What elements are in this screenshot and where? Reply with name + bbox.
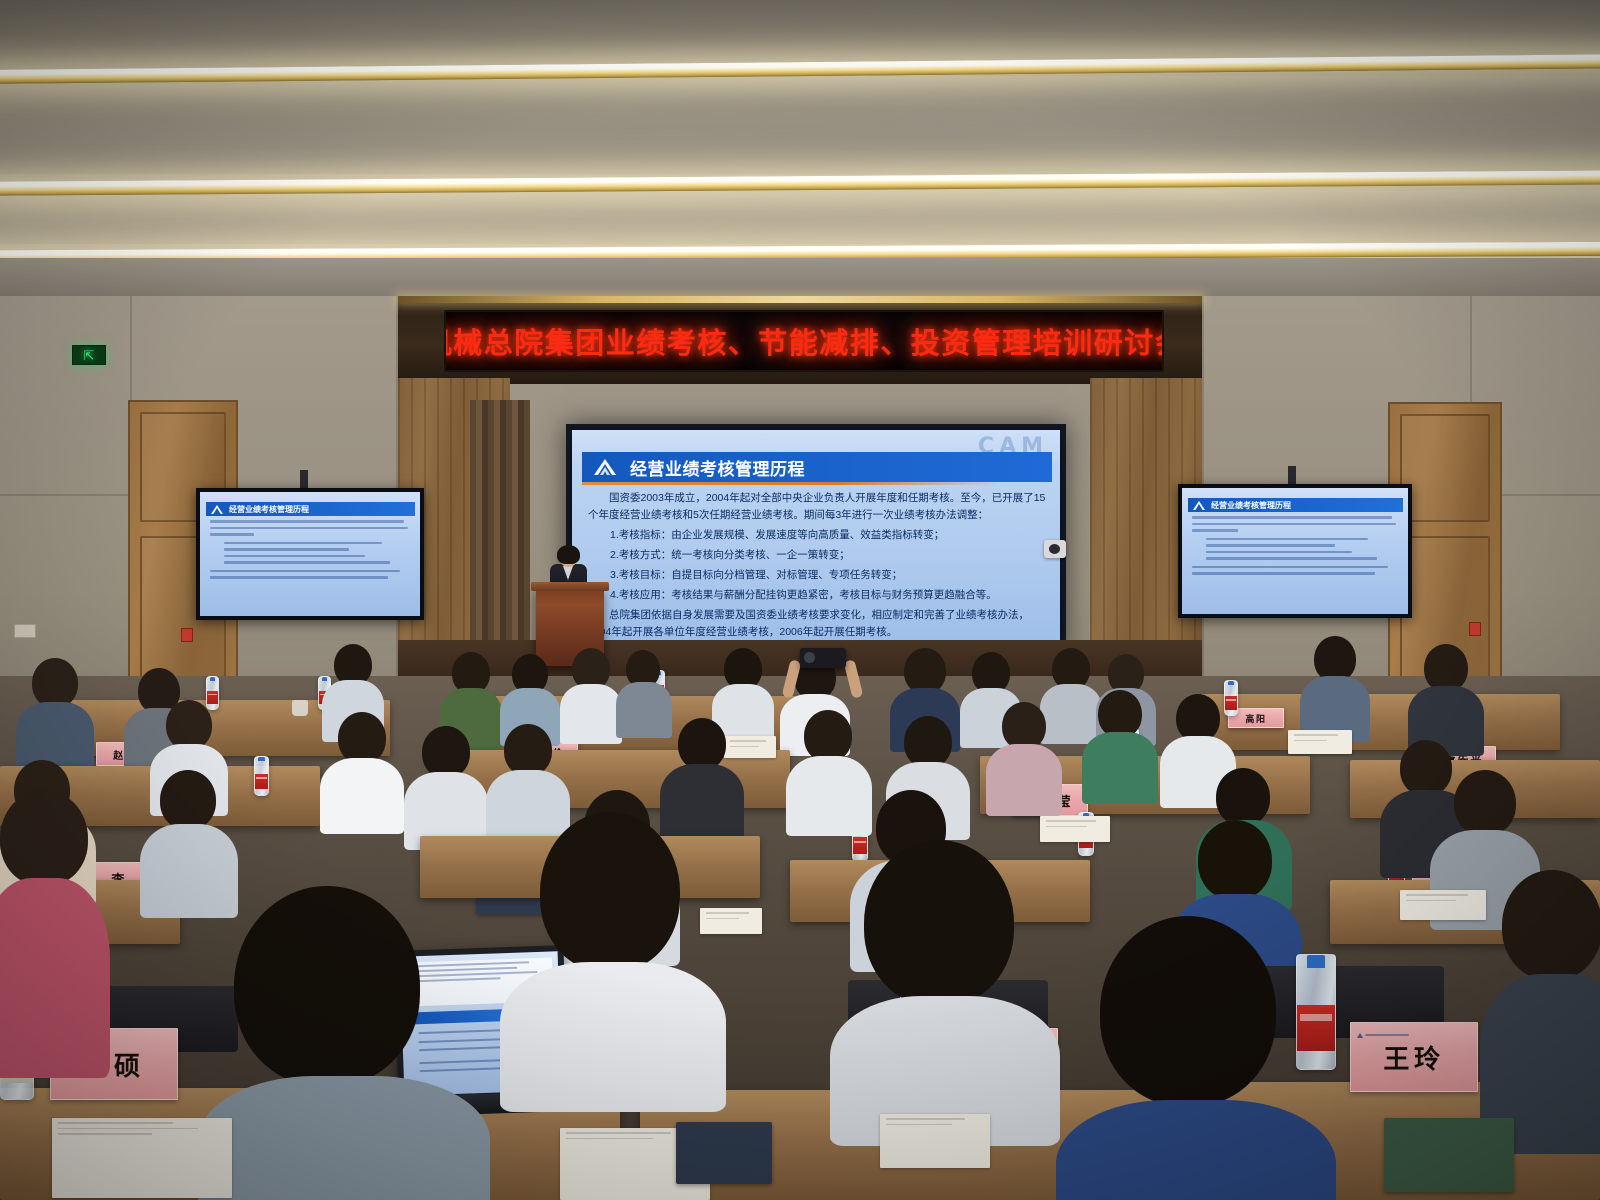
- slide-item-1: 1.考核指标：由企业发展规模、发展速度等向高质量、效益类指标转变；: [610, 527, 1048, 544]
- attendee-torso: [140, 824, 238, 918]
- monitor-right-body-lines: [1192, 516, 1400, 579]
- attendee-head: [540, 812, 680, 972]
- water-bottle: [1296, 954, 1336, 1070]
- attendee-head: [1198, 820, 1272, 900]
- attendee-head: [32, 658, 78, 708]
- emergency-exit-icon: ⇱: [72, 345, 106, 365]
- attendee-head: [1502, 870, 1600, 980]
- led-banner: 机械总院集团业绩考核、节能减排、投资管理培训研讨会: [444, 310, 1164, 372]
- attendee-head: [0, 790, 88, 886]
- attendee-head: [1424, 644, 1468, 692]
- company-logo-icon: [209, 504, 225, 515]
- ptz-camera-icon: [1044, 540, 1066, 558]
- conference-room-photo: ⇱ 机械总院集团业绩考核、节能减排、投资管理培训研讨会 CAM 经营业绩考核管理…: [0, 0, 1600, 1200]
- podium-top: [531, 582, 609, 591]
- monitor-left-body-lines: [210, 520, 412, 583]
- attendee-torso: [0, 878, 110, 1078]
- attendee-head: [504, 724, 552, 776]
- stage-curtain: [470, 400, 530, 662]
- monitor-left-screen: 经营业绩考核管理历程: [200, 492, 420, 616]
- exit-running-man-icon: ⇱: [84, 349, 95, 362]
- company-logo-icon: [1191, 500, 1207, 511]
- slide-title: 经营业绩考核管理历程: [630, 455, 805, 480]
- attendee-head: [864, 840, 1014, 1006]
- attendee-head: [1400, 740, 1452, 796]
- fire-alarm-box: [181, 628, 193, 642]
- slide-title-bar: 经营业绩考核管理历程: [582, 452, 1052, 482]
- ceiling: [0, 0, 1600, 300]
- attendee-head: [1216, 768, 1270, 826]
- smartphone-camera-icon: [800, 648, 846, 668]
- slide-accent-rule: [582, 482, 1002, 485]
- attendee-torso: [1040, 684, 1102, 744]
- attendee-head: [160, 770, 216, 830]
- speaker-hair: [557, 545, 580, 564]
- monitor-right-title-bar: 经营业绩考核管理历程: [1188, 498, 1403, 512]
- stage-gold-trim: [398, 296, 1202, 303]
- document-sheet: [1040, 816, 1110, 842]
- fire-alarm-box: [1469, 622, 1481, 636]
- slide-item-3: 3.考核目标：自提目标向分档管理、对标管理、专项任务转变；: [610, 567, 1048, 584]
- monitor-left-title-bar: 经营业绩考核管理历程: [206, 502, 415, 516]
- monitor-right-screen: 经营业绩考核管理历程: [1182, 488, 1408, 614]
- document-sheet: [700, 908, 762, 934]
- water-bottle: [1224, 680, 1238, 716]
- slide-item-2: 2.考核方式：统一考核向分类考核、一企一策转变；: [610, 547, 1048, 564]
- slide-body: 国资委2003年成立，2004年起对全部中央企业负责人开展年度和任期考核。至今，…: [588, 490, 1048, 644]
- attendee-torso: [660, 764, 744, 842]
- mug: [292, 700, 308, 716]
- attendee-torso: [1082, 732, 1158, 804]
- attendee-head: [1100, 916, 1276, 1106]
- attendee-head: [422, 726, 470, 778]
- document-sheet: [1400, 890, 1486, 920]
- attendee-head: [1454, 770, 1516, 836]
- attendee-torso: [1056, 1100, 1336, 1200]
- slide-item-4: 4.考核应用：考核结果与薪酬分配挂钩更趋紧密，考核目标与财务预算更趋融合等。: [610, 587, 1048, 604]
- attendee-head: [1002, 702, 1046, 750]
- attendee-torso: [986, 744, 1062, 816]
- attendee-head: [678, 718, 726, 770]
- attendee-torso: [616, 682, 672, 738]
- document-sheet: [724, 736, 776, 758]
- attendee-head: [1098, 690, 1142, 738]
- presentation-slide: CAM 经营业绩考核管理历程 国资委2003年成立，2004年起对全部中央企业负…: [572, 430, 1060, 650]
- document-sheet: [1288, 730, 1352, 754]
- attendee-head: [1176, 694, 1220, 742]
- water-bottle: [206, 676, 219, 710]
- attendee-torso: [786, 756, 872, 836]
- attendee-torso: [560, 684, 622, 744]
- placard-logo-icon: [1357, 1028, 1409, 1042]
- monitor-left-title: 经营业绩考核管理历程: [229, 504, 309, 515]
- side-monitor-left: 经营业绩考核管理历程: [196, 488, 424, 620]
- attendee-head: [166, 700, 212, 750]
- side-monitor-right: 经营业绩考核管理历程: [1178, 484, 1412, 618]
- door-panel-upper: [1400, 414, 1490, 522]
- notebook: [1384, 1118, 1514, 1192]
- name-placard-wangling: 王玲: [1350, 1022, 1478, 1092]
- ceiling-panel-mid: [0, 190, 1600, 244]
- wall-socket: [14, 624, 36, 638]
- document-sheet: [880, 1114, 990, 1168]
- main-projection-screen: CAM 经营业绩考核管理历程 国资委2003年成立，2004年起对全部中央企业负…: [566, 424, 1066, 656]
- attendee-torso: [500, 962, 726, 1112]
- attendee-torso: [320, 758, 404, 834]
- attendee-head: [338, 712, 386, 764]
- water-bottle: [254, 756, 269, 796]
- attendee-torso: [198, 1076, 490, 1200]
- monitor-right-title: 经营业绩考核管理历程: [1211, 500, 1291, 511]
- company-logo-icon: [588, 456, 622, 478]
- ceiling-panel-upper: [0, 76, 1600, 174]
- notebook: [676, 1122, 772, 1184]
- slide-paragraph: 国资委2003年成立，2004年起对全部中央企业负责人开展年度和任期考核。至今，…: [588, 490, 1048, 524]
- document-sheet: [52, 1118, 232, 1198]
- slide-closing-paragraph: 总院集团依据自身发展需要及国资委业绩考核要求变化，相应制定和完善了业绩考核办法，…: [588, 607, 1048, 641]
- led-banner-text: 机械总院集团业绩考核、节能减排、投资管理培训研讨会: [444, 320, 1164, 362]
- attendee-head: [904, 716, 952, 768]
- attendee-head: [804, 710, 852, 762]
- attendee-head: [234, 886, 420, 1086]
